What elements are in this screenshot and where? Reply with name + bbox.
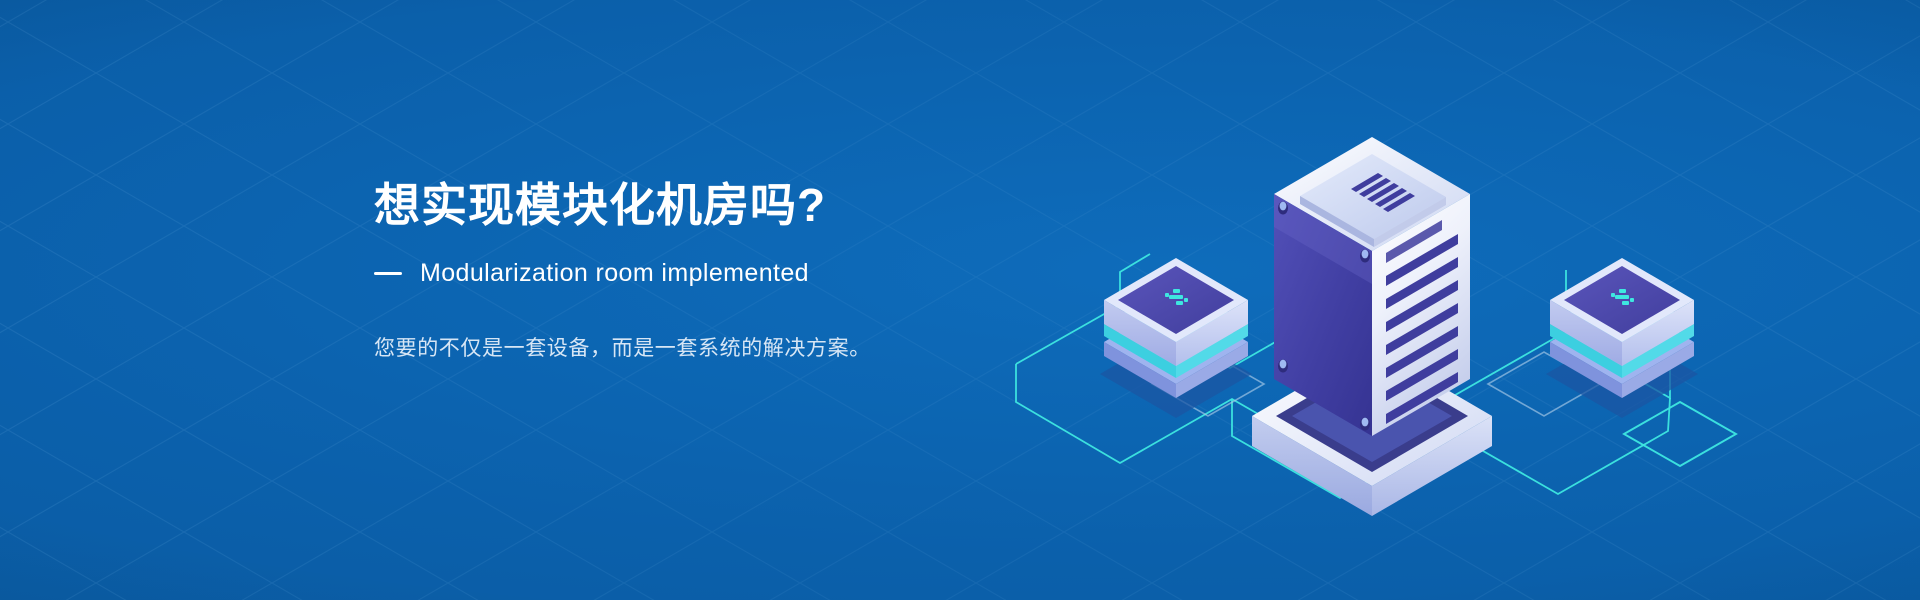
accent-diamond-outline	[1624, 402, 1736, 466]
hero-copy: 想实现模块化机房吗? Modularization room implement…	[374, 178, 1014, 362]
page-subtitle: Modularization room implemented	[420, 259, 809, 288]
isometric-server-scene	[980, 84, 1760, 524]
dash-divider-icon	[374, 272, 402, 275]
page-description: 您要的不仅是一套设备，而是一套系统的解决方案。	[374, 332, 1014, 362]
subtitle-row: Modularization room implemented	[374, 259, 1014, 288]
hero-banner: 想实现模块化机房吗? Modularization room implement…	[0, 0, 1920, 600]
page-title: 想实现模块化机房吗?	[374, 178, 1014, 233]
server-tower[interactable]	[1274, 137, 1470, 436]
hero-illustration	[980, 84, 1760, 524]
